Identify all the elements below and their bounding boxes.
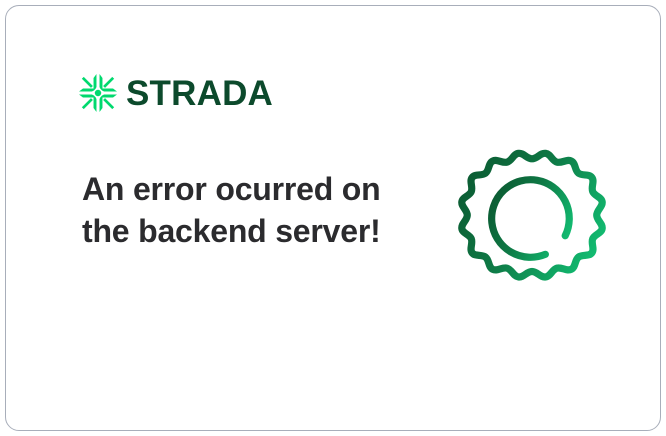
error-card: STRADA An error ocurred on the backend s… [5, 5, 661, 431]
brand-lockup: STRADA [79, 74, 273, 112]
strada-asterisk-icon [79, 74, 117, 112]
brand-wordmark: STRADA [126, 76, 273, 111]
error-headline: An error ocurred on the backend server! [82, 168, 382, 252]
gear-cog-icon [452, 142, 612, 302]
